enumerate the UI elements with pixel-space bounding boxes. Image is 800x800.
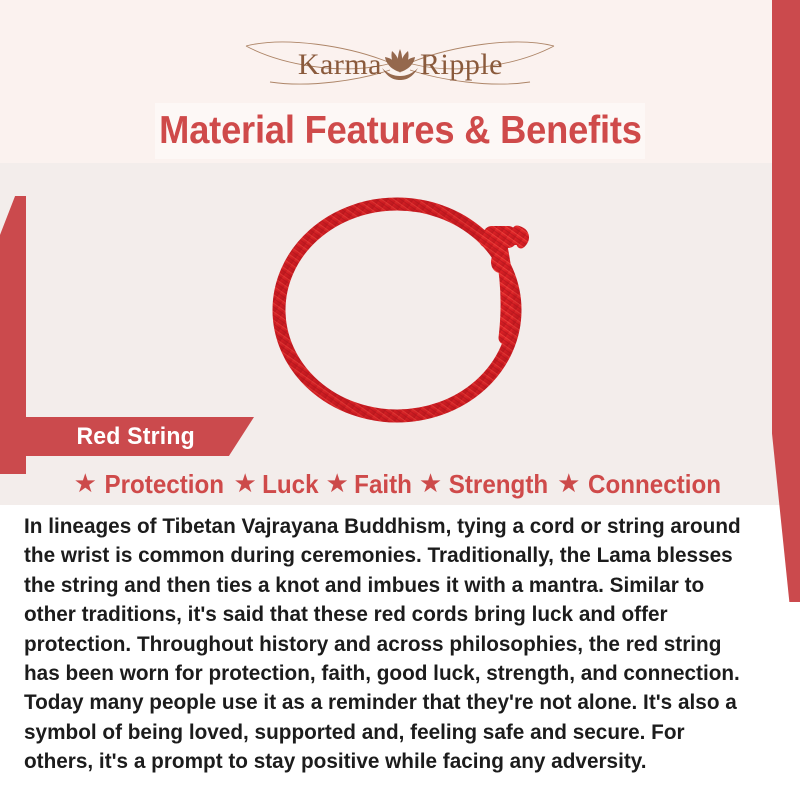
star-icon: ★ — [325, 470, 348, 496]
red-string-bracelet-graphic — [255, 170, 555, 430]
benefit-label: Faith — [354, 469, 412, 500]
description-paragraph: In lineages of Tibetan Vajrayana Buddhis… — [24, 512, 754, 777]
infographic-page: Karma Ripple Material Features & Benefit… — [0, 0, 800, 800]
page-title: Material Features & Benefits — [159, 109, 642, 153]
star-icon: ★ — [233, 470, 256, 496]
benefit-item: ★ Luck — [233, 469, 320, 500]
benefit-label: Connection — [588, 469, 721, 500]
benefit-label: Protection — [104, 469, 224, 500]
star-icon: ★ — [557, 470, 580, 496]
brand-name-right: Ripple — [420, 48, 503, 81]
benefit-label: Strength — [449, 469, 548, 500]
benefit-item: ★ Connection — [557, 469, 726, 500]
brand-logo: Karma Ripple — [0, 38, 800, 90]
star-icon: ★ — [74, 470, 97, 496]
product-image — [255, 170, 555, 430]
brand-logo-graphic: Karma Ripple — [240, 38, 560, 90]
star-icon: ★ — [419, 470, 442, 496]
benefit-item: ★ Faith — [325, 469, 413, 500]
benefit-label: Luck — [262, 469, 318, 500]
title-banner: Material Features & Benefits — [155, 103, 645, 159]
material-label: Red String — [76, 423, 194, 451]
benefits-row: ★ Protection ★ Luck ★ Faith ★ Strength ★… — [0, 464, 800, 504]
benefit-item: ★ Strength — [419, 469, 552, 500]
decor-bar-left — [0, 196, 26, 474]
brand-name-left: Karma — [298, 48, 382, 81]
benefit-item: ★ Protection — [74, 469, 229, 500]
material-label-banner: Red String — [26, 417, 254, 456]
